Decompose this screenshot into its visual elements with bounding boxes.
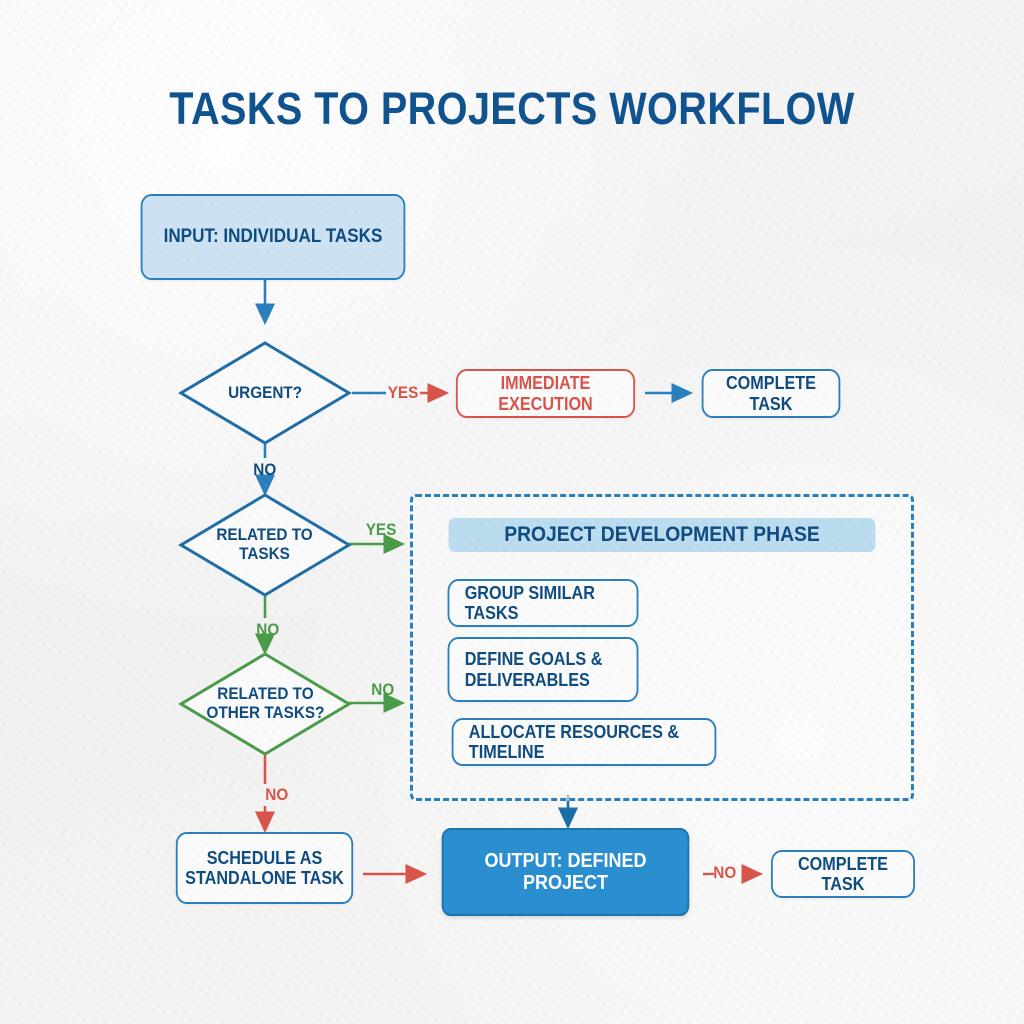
node-input-individual-tasks[interactable]: INPUT: INDIVIDUAL TASKS [141,194,406,280]
panel-step-0-label: GROUP SIMILAR TASKS [465,583,637,623]
node-complete-task-top[interactable]: COMPLETE TASK [702,369,841,418]
node-immediate-execution[interactable]: IMMEDIATE EXECUTION [456,369,635,418]
flowchart-canvas: TASKS TO PROJECTS WORKFLOW [0,0,1024,1024]
decision-related-tasks-line2: TASKS [240,544,291,563]
edge-label-urgent-no: NO [253,460,276,480]
decision-related-tasks-line1: RELATED TO [217,525,313,544]
node-schedule-label: SCHEDULE AS STANDALONE TASK [185,848,344,888]
node-complete-task-bottom[interactable]: COMPLETE TASK [771,850,915,898]
edge-label-urgent-yes: YES [388,383,419,403]
panel-step-define-goals-deliverables[interactable]: DEFINE GOALS & DELIVERABLES [448,637,639,702]
edge-label-related-yes: YES [366,520,397,540]
edge-label-other-no-schedule: NO [265,785,288,805]
node-schedule-line2: STANDALONE TASK [185,868,344,888]
decision-urgent-label: URGENT? [228,384,302,403]
node-input-label: INPUT: INDIVIDUAL TASKS [164,226,383,247]
node-schedule-line1: SCHEDULE AS [207,848,323,868]
decision-related-other-label: RELATED TO OTHER TASKS? [206,685,324,722]
decision-related-to-tasks-label: RELATED TO TASKS [217,526,313,563]
node-output-label: OUTPUT: DEFINED PROJECT [453,850,679,895]
decision-related-to-tasks[interactable]: RELATED TO TASKS [178,492,352,598]
decision-related-to-other-tasks[interactable]: RELATED TO OTHER TASKS? [178,651,352,757]
node-complete-task-top-label: COMPLETE TASK [711,373,832,413]
edge-label-output-no: NO [713,863,736,883]
panel-header-project-development-phase: PROJECT DEVELOPMENT PHASE [449,518,876,552]
decision-related-other-line2: OTHER TASKS? [206,703,324,722]
node-schedule-standalone-task[interactable]: SCHEDULE AS STANDALONE TASK [176,832,353,904]
panel-step-2-label: ALLOCATE RESOURCES & TIMELINE [469,722,715,762]
project-development-phase-panel: PROJECT DEVELOPMENT PHASE GROUP SIMILAR … [410,494,914,801]
edge-label-other-no-panel: NO [371,680,394,700]
edge-label-related-no: NO [256,620,279,640]
page-title: TASKS TO PROJECTS WORKFLOW [61,83,962,135]
node-immediate-label: IMMEDIATE EXECUTION [465,373,626,413]
panel-step-group-similar-tasks[interactable]: GROUP SIMILAR TASKS [448,579,639,627]
panel-step-1-line2: DELIVERABLES [465,670,590,690]
node-complete-task-bottom-label: COMPLETE TASK [780,854,906,894]
decision-urgent[interactable]: URGENT? [178,340,352,446]
panel-step-1-label: DEFINE GOALS & DELIVERABLES [465,649,603,689]
decision-related-other-line1: RELATED TO [217,684,313,703]
panel-step-1-line1: DEFINE GOALS & [465,649,603,669]
panel-step-allocate-resources-timeline[interactable]: ALLOCATE RESOURCES & TIMELINE [452,718,717,766]
node-output-defined-project[interactable]: OUTPUT: DEFINED PROJECT [442,828,690,916]
